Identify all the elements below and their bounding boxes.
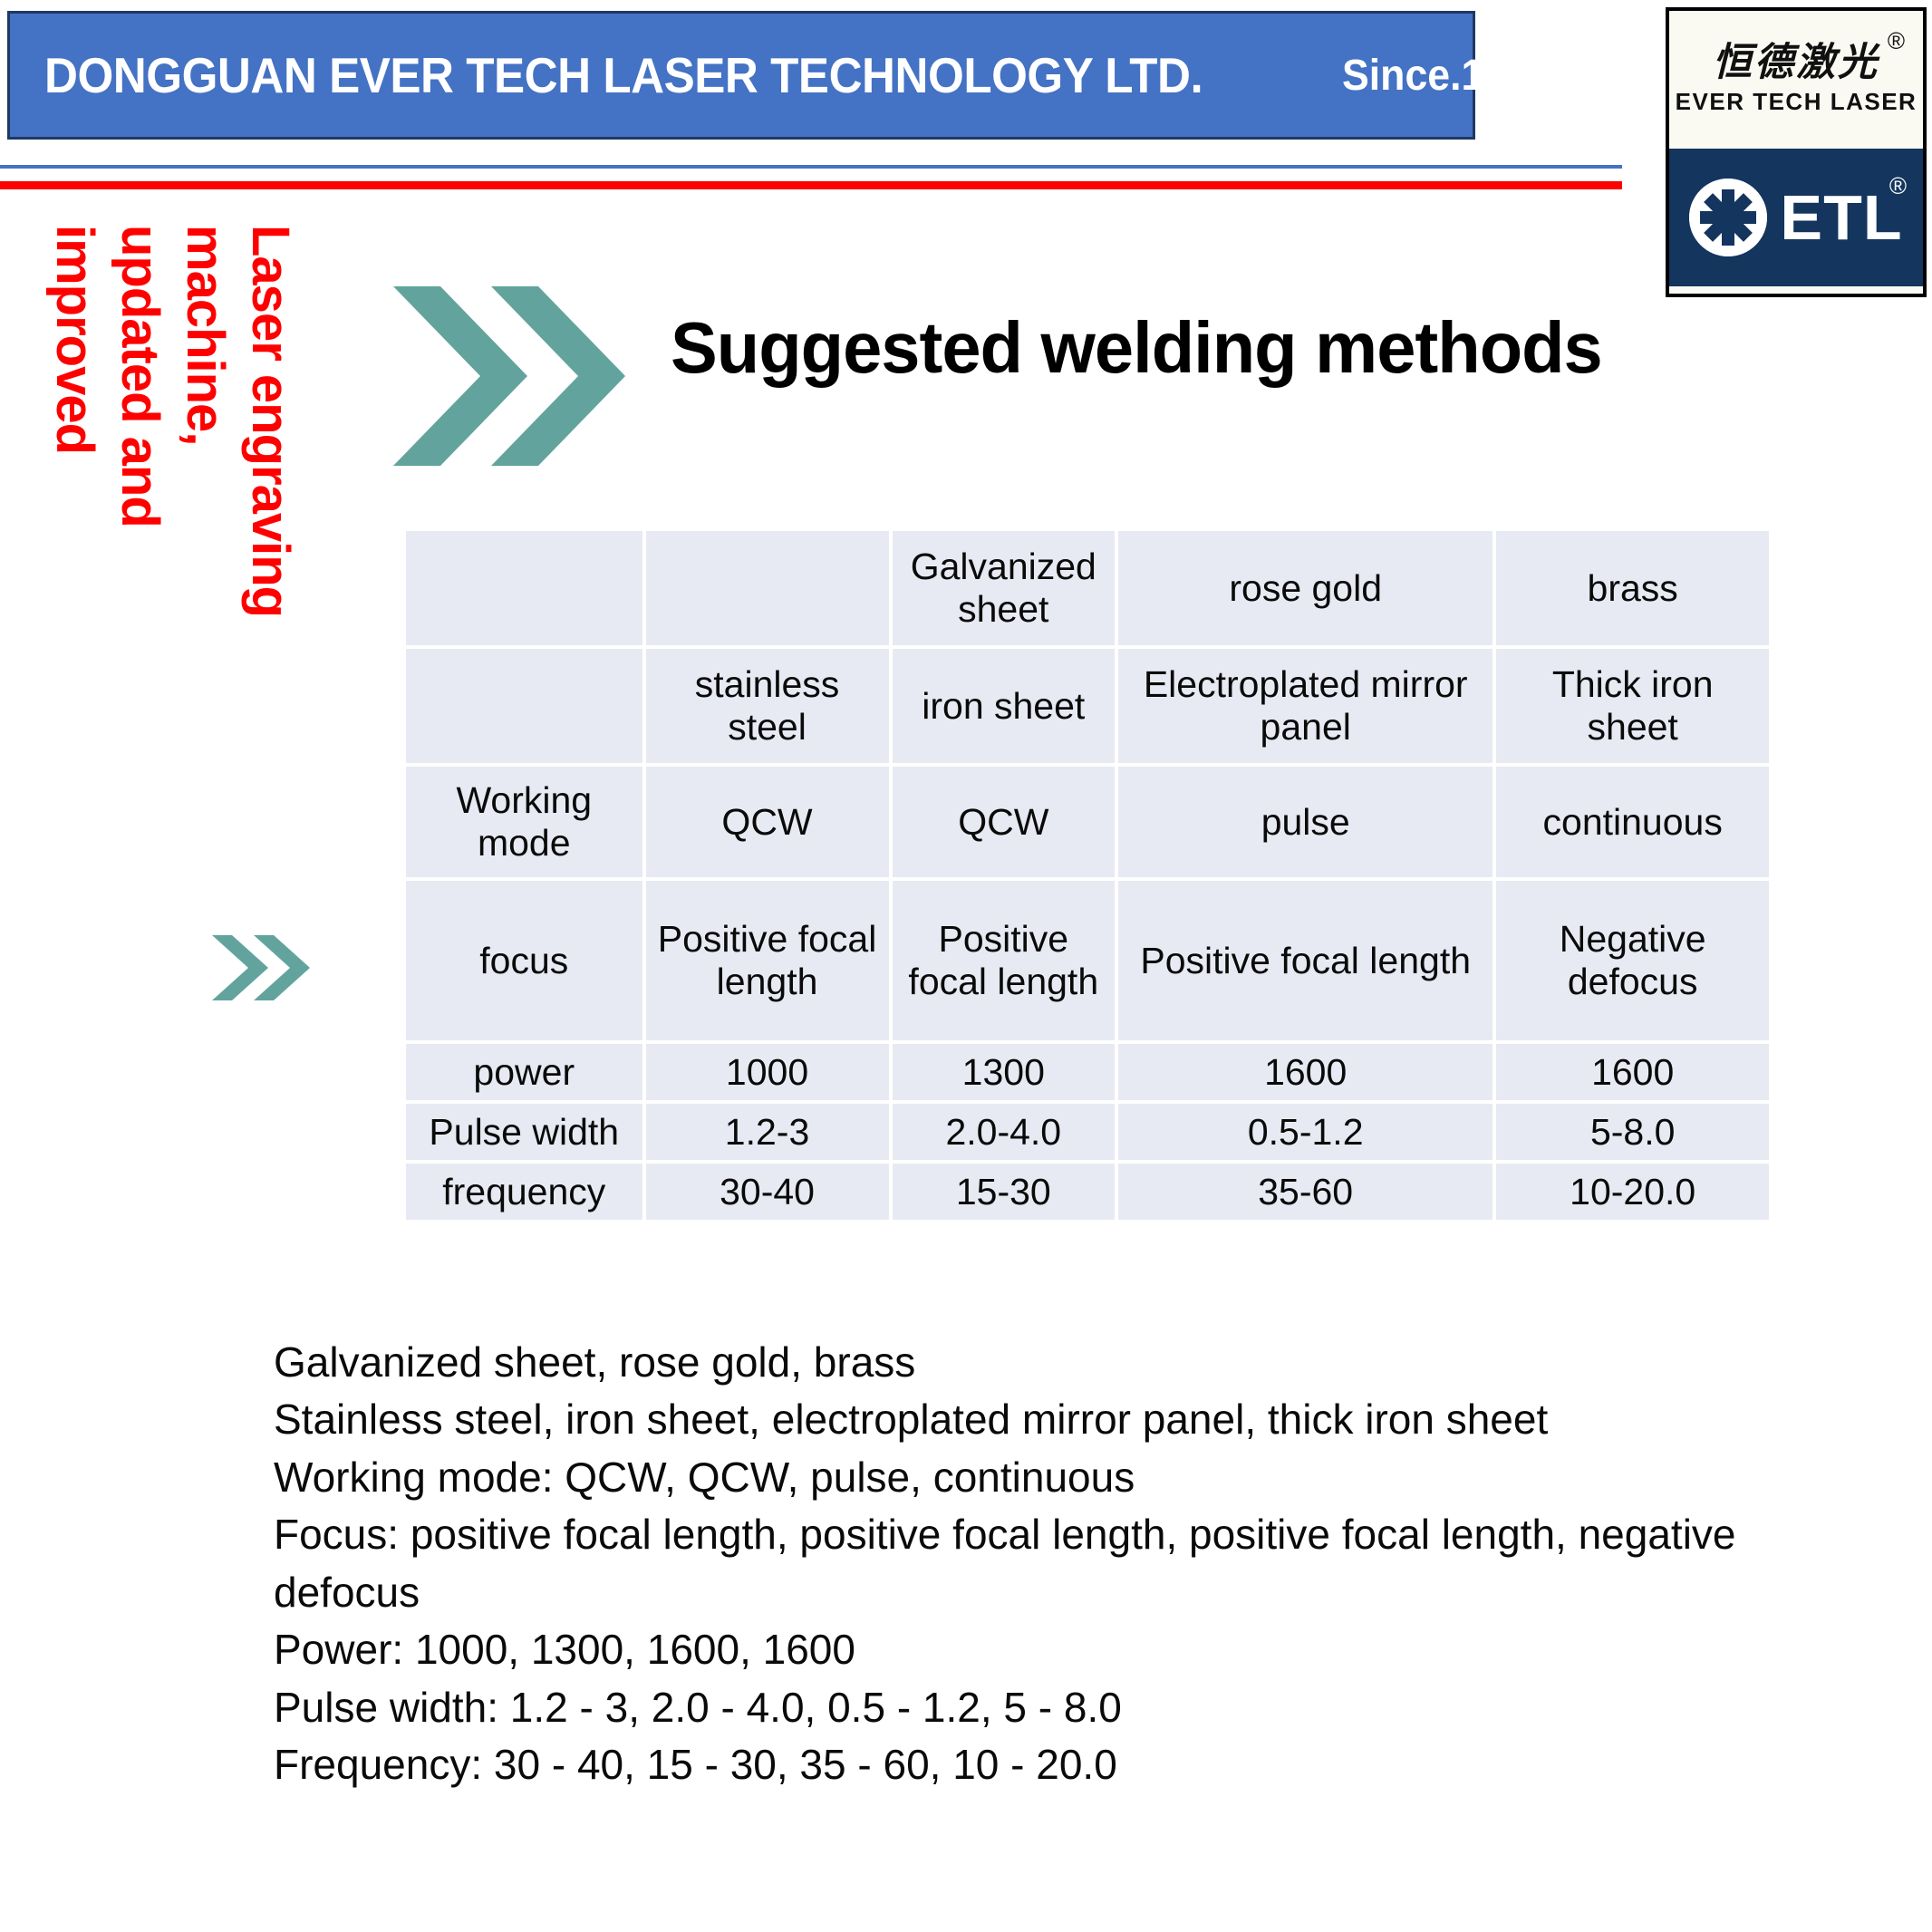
cell-r4c0: power <box>406 1044 642 1100</box>
etl-wordmark: ETL <box>1780 186 1902 249</box>
table-row: Galvanized sheet rose gold brass <box>406 531 1769 645</box>
table-row: power 1000 1300 1600 1600 <box>406 1044 1769 1100</box>
red-divider-rule <box>0 181 1622 189</box>
caption-block: Galvanized sheet, rose gold, brass Stain… <box>274 1334 1742 1794</box>
cell-r6c2: 15-30 <box>893 1164 1115 1220</box>
slide-canvas: DONGGUAN EVER TECH LASER TECHNOLOGY LTD.… <box>0 0 1932 1932</box>
cell-r2c0: Working mode <box>406 767 642 877</box>
brand-logo: 恒德激光 ® EVER TECH LASER ETL ® <box>1666 7 1927 297</box>
cell-r0c4: brass <box>1496 531 1769 645</box>
etl-registered-icon: ® <box>1889 172 1907 200</box>
caption-line-3: Working mode: QCW, QCW, pulse, continuou… <box>274 1449 1742 1506</box>
cell-r0c0 <box>406 531 642 645</box>
vertical-headline-line-2: machine, <box>175 225 236 445</box>
logo-lower-panel: ETL ® <box>1669 149 1923 286</box>
caption-line-6: Pulse width: 1.2 - 3, 2.0 - 4.0, 0.5 - 1… <box>274 1679 1742 1736</box>
cell-r2c4: continuous <box>1496 767 1769 877</box>
caption-line-2: Stainless steel, iron sheet, electroplat… <box>274 1391 1742 1448</box>
cell-r3c2: Positive focal length <box>893 881 1115 1040</box>
company-name: DONGGUAN EVER TECH LASER TECHNOLOGY LTD. <box>44 46 1203 104</box>
cell-r1c0 <box>406 649 642 763</box>
table-row: focus Positive focal length Positive foc… <box>406 881 1769 1040</box>
cell-r6c0: frequency <box>406 1164 642 1220</box>
cell-r3c3: Positive focal length <box>1118 881 1492 1040</box>
logo-english-name: EVER TECH LASER <box>1676 88 1918 116</box>
cell-r1c2: iron sheet <box>893 649 1115 763</box>
cell-r1c1: stainless steel <box>646 649 889 763</box>
cell-r6c3: 35-60 <box>1118 1164 1492 1220</box>
cell-r0c2: Galvanized sheet <box>893 531 1115 645</box>
cell-r4c2: 1300 <box>893 1044 1115 1100</box>
table-row: Working mode QCW QCW pulse continuous <box>406 767 1769 877</box>
etl-asterisk-icon <box>1689 179 1767 256</box>
cell-r4c3: 1600 <box>1118 1044 1492 1100</box>
blue-divider-rule <box>0 165 1622 169</box>
page-title: Suggested welding methods <box>671 306 1602 390</box>
cell-r0c1 <box>646 531 889 645</box>
table-row: frequency 30-40 15-30 35-60 10-20.0 <box>406 1164 1769 1220</box>
cell-r3c0: focus <box>406 881 642 1040</box>
table-row: stainless steel iron sheet Electroplated… <box>406 649 1769 763</box>
cell-r1c4: Thick iron sheet <box>1496 649 1769 763</box>
cell-r3c1: Positive focal length <box>646 881 889 1040</box>
cell-r1c3: Electroplated mirror panel <box>1118 649 1492 763</box>
logo-upper-panel: 恒德激光 ® EVER TECH LASER <box>1669 11 1923 149</box>
vertical-headline-line-3: updated and <box>110 225 170 527</box>
double-chevron-right-icon <box>390 281 625 471</box>
cell-r4c4: 1600 <box>1496 1044 1769 1100</box>
cell-r0c3: rose gold <box>1118 531 1492 645</box>
since-label: Since.1997 <box>1342 51 1551 101</box>
registered-trademark-icon: ® <box>1888 27 1905 55</box>
cell-r4c1: 1000 <box>646 1044 889 1100</box>
double-chevron-right-small-icon <box>210 932 310 1004</box>
cell-r6c4: 10-20.0 <box>1496 1164 1769 1220</box>
cell-r2c2: QCW <box>893 767 1115 877</box>
table-row: Pulse width 1.2-3 2.0-4.0 0.5-1.2 5-8.0 <box>406 1104 1769 1160</box>
cell-r5c3: 0.5-1.2 <box>1118 1104 1492 1160</box>
caption-line-5: Power: 1000, 1300, 1600, 1600 <box>274 1621 1742 1678</box>
cell-r5c0: Pulse width <box>406 1104 642 1160</box>
caption-line-1: Galvanized sheet, rose gold, brass <box>274 1334 1742 1391</box>
caption-line-7: Frequency: 30 - 40, 15 - 30, 35 - 60, 10… <box>274 1736 1742 1793</box>
caption-line-4: Focus: positive focal length, positive f… <box>274 1506 1742 1621</box>
cell-r6c1: 30-40 <box>646 1164 889 1220</box>
company-header-banner: DONGGUAN EVER TECH LASER TECHNOLOGY LTD.… <box>7 11 1475 140</box>
logo-chinese-name: 恒德激光 <box>1713 43 1879 82</box>
cell-r5c2: 2.0-4.0 <box>893 1104 1115 1160</box>
vertical-headline-line-1: Laser engraving <box>240 225 301 617</box>
welding-parameters-table: Galvanized sheet rose gold brass stainle… <box>402 527 1773 1223</box>
cell-r3c4: Negative defocus <box>1496 881 1769 1040</box>
cell-r2c3: pulse <box>1118 767 1492 877</box>
cell-r5c1: 1.2-3 <box>646 1104 889 1160</box>
cell-r5c4: 5-8.0 <box>1496 1104 1769 1160</box>
vertical-headline-line-4: improved <box>44 225 105 454</box>
vertical-headline: Laser engraving machine, updated and imp… <box>33 225 304 614</box>
cell-r2c1: QCW <box>646 767 889 877</box>
